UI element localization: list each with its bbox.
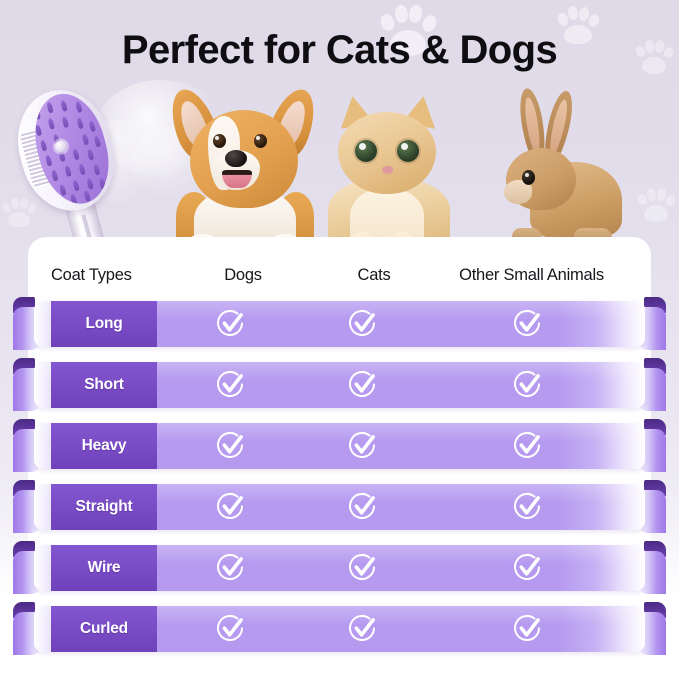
table-row: Heavy: [0, 415, 679, 465]
coat-type-text: Curled: [80, 620, 128, 638]
table-row: Straight: [0, 476, 679, 526]
column-header-coat-types: Coat Types: [51, 261, 132, 289]
check-icon: [215, 491, 247, 523]
table-row: Short: [0, 354, 679, 404]
check-icon: [512, 613, 544, 645]
coat-type-text: Long: [85, 315, 122, 333]
coat-type-label: Heavy: [51, 423, 157, 469]
check-icon: [347, 491, 379, 523]
ribbon-band: Long: [34, 301, 645, 347]
coat-type-text: Short: [84, 376, 123, 394]
table-row: Wire: [0, 537, 679, 587]
check-icon: [215, 613, 247, 645]
ribbon-band: Wire: [34, 545, 645, 591]
check-icon: [512, 308, 544, 340]
check-icon: [347, 613, 379, 645]
column-header-other: Other Small Animals: [424, 261, 639, 289]
rabbit-photo: [478, 88, 624, 256]
ribbon-band: Short: [34, 362, 645, 408]
coat-type-label: Wire: [51, 545, 157, 591]
page-title: Perfect for Cats & Dogs: [0, 26, 679, 74]
coat-type-label: Curled: [51, 606, 157, 652]
ribbon-band: Heavy: [34, 423, 645, 469]
check-icon: [215, 552, 247, 584]
dog-photo: [168, 84, 320, 256]
column-header-cats: Cats: [310, 261, 438, 289]
coat-type-rows: Long Short Heavy: [0, 293, 679, 679]
check-icon: [215, 369, 247, 401]
ribbon-band: Straight: [34, 484, 645, 530]
check-icon: [347, 552, 379, 584]
coat-type-label: Long: [51, 301, 157, 347]
table-row: Long: [0, 293, 679, 343]
table-row: Curled: [0, 598, 679, 648]
check-icon: [347, 369, 379, 401]
cat-photo: [326, 96, 452, 256]
table-header-row: Coat Types Dogs Cats Other Small Animals: [28, 261, 651, 289]
hero-artwork: [0, 74, 679, 254]
coat-type-label: Short: [51, 362, 157, 408]
check-icon: [512, 430, 544, 462]
column-header-dogs: Dogs: [178, 261, 308, 289]
check-icon: [512, 491, 544, 523]
coat-type-text: Wire: [88, 559, 121, 577]
infographic-page: Perfect for Cats & Dogs: [0, 0, 679, 679]
check-icon: [347, 430, 379, 462]
check-icon: [512, 552, 544, 584]
ribbon-band: Curled: [34, 606, 645, 652]
check-icon: [512, 369, 544, 401]
coat-type-label: Straight: [51, 484, 157, 530]
check-icon: [347, 308, 379, 340]
coat-type-text: Heavy: [82, 437, 127, 455]
coat-type-text: Straight: [76, 498, 133, 516]
check-icon: [215, 308, 247, 340]
check-icon: [215, 430, 247, 462]
